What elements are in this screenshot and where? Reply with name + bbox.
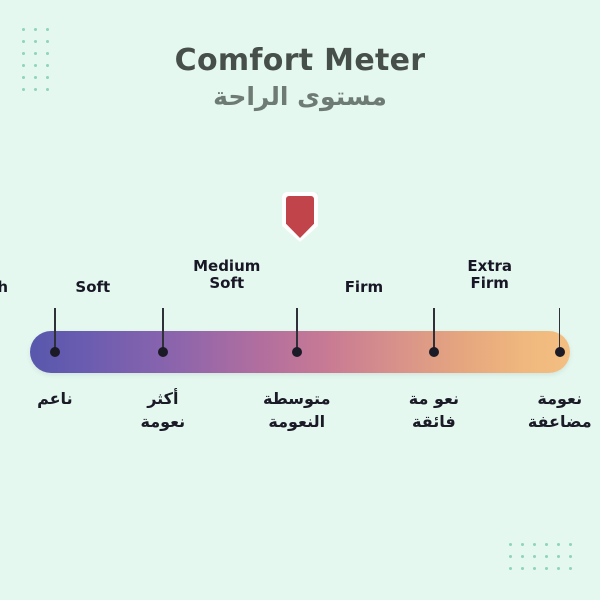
comfort-meter-infographic: Comfort Meter مستوى الراحة PlushSoftMedi… [0, 0, 600, 600]
comfort-level-marker-dot[interactable] [555, 347, 565, 357]
comfort-level-marker-dot[interactable] [158, 347, 168, 357]
shield-marker-icon [282, 192, 318, 242]
comfort-level-marker-dot[interactable] [429, 347, 439, 357]
comfort-level-label-ar: ناعم [0, 388, 115, 411]
comfort-level-leader-line [433, 308, 435, 352]
comfort-level-label-ar: متوسطة النعومة [237, 388, 357, 433]
comfort-level-leader-line [559, 308, 561, 352]
comfort-level-leader-line [162, 308, 164, 352]
comfort-level-marker-dot[interactable] [292, 347, 302, 357]
comfort-level-label-ar: نعومة مضاعفة [500, 388, 600, 433]
comfort-level-label-ar: أكثر نعومة [103, 388, 223, 433]
comfort-meter: PlushSoftMedium SoftFirmExtra Firm ناعمأ… [0, 0, 600, 600]
comfort-level-label-ar: نعو مة فائقة [374, 388, 494, 433]
comfort-marker[interactable] [282, 192, 318, 242]
comfort-level-marker-dot[interactable] [50, 347, 60, 357]
shield-marker-fill [286, 196, 314, 238]
comfort-level-leader-line [54, 308, 56, 352]
comfort-level-leader-line [296, 308, 298, 352]
